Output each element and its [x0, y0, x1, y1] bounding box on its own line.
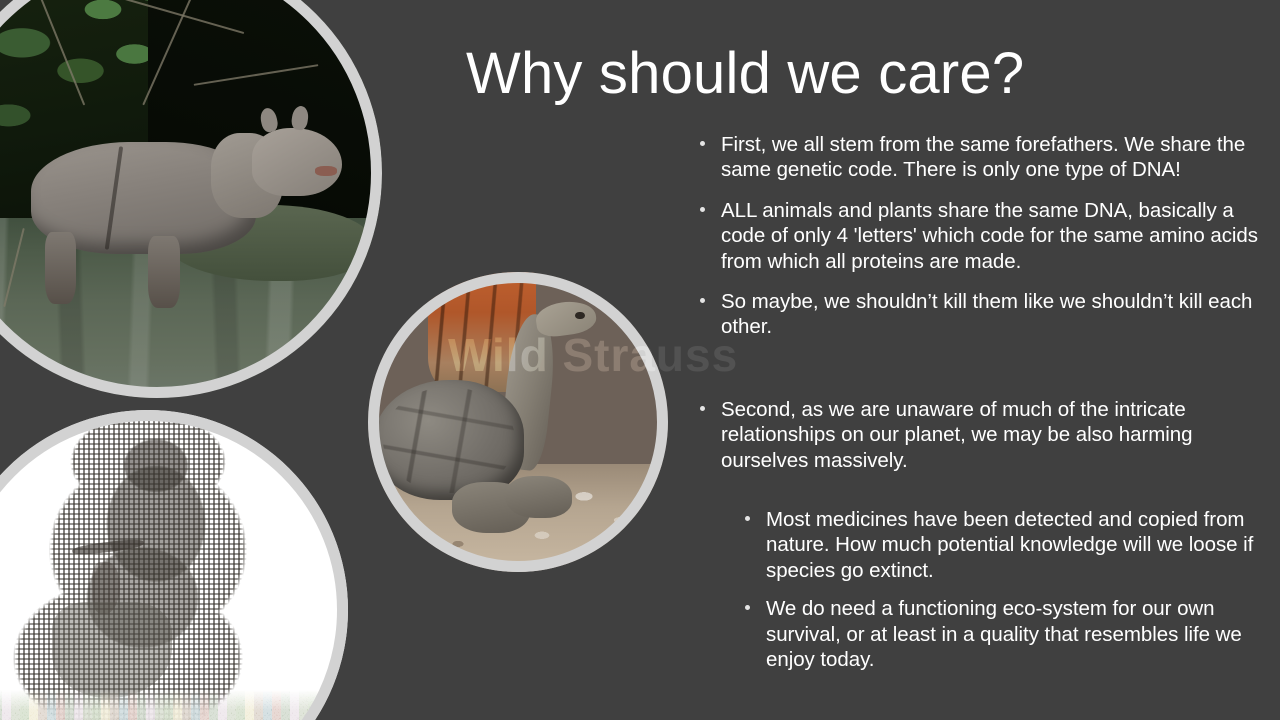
darwin-mosaic-art: [0, 410, 348, 720]
bullet-text: Second, as we are unaware of much of the…: [721, 398, 1193, 472]
bullet-item: First, we all stem from the same forefat…: [694, 132, 1274, 183]
rhino-mouth: [315, 166, 338, 176]
tortoise-head: [534, 298, 598, 339]
slide-body: First, we all stem from the same forefat…: [694, 132, 1274, 686]
tortoise-leg: [506, 476, 572, 518]
rhinoceros-photo: [0, 0, 382, 398]
giant-tortoise-art: [368, 272, 668, 572]
rhinoceros-photo-art: [0, 0, 382, 398]
giant-tortoise-photo: [368, 272, 668, 572]
darwin-mosaic-tiles: [0, 410, 348, 720]
sub-bullet-item: Most medicines have been detected and co…: [740, 507, 1274, 583]
slide-canvas: Wild Strauss Why should we care? First, …: [0, 0, 1280, 720]
sub-bullet-text: Most medicines have been detected and co…: [766, 508, 1253, 582]
rhino-leg: [45, 232, 77, 304]
species-specimen-grid: [0, 682, 348, 720]
bullet-text: First, we all stem from the same forefat…: [721, 133, 1245, 181]
slide-title: Why should we care?: [466, 44, 1266, 105]
sub-bullet-text: We do need a functioning eco-system for …: [766, 597, 1242, 671]
darwin-mosaic-photo: [0, 410, 348, 720]
bullet-item: ALL animals and plants share the same DN…: [694, 198, 1274, 274]
bullet-text: So maybe, we shouldn’t kill them like we…: [721, 290, 1252, 338]
bullet-list-level1: First, we all stem from the same forefat…: [694, 132, 1274, 473]
tortoise-eye: [575, 312, 585, 320]
bullet-item: So maybe, we shouldn’t kill them like we…: [694, 289, 1274, 340]
bullet-item: Second, as we are unaware of much of the…: [694, 397, 1274, 473]
rhino-leg: [148, 236, 180, 308]
bullet-text: ALL animals and plants share the same DN…: [721, 199, 1258, 273]
bullet-list-level2: Most medicines have been detected and co…: [740, 507, 1274, 672]
sub-bullet-item: We do need a functioning eco-system for …: [740, 596, 1274, 672]
rhino-head: [252, 128, 342, 196]
